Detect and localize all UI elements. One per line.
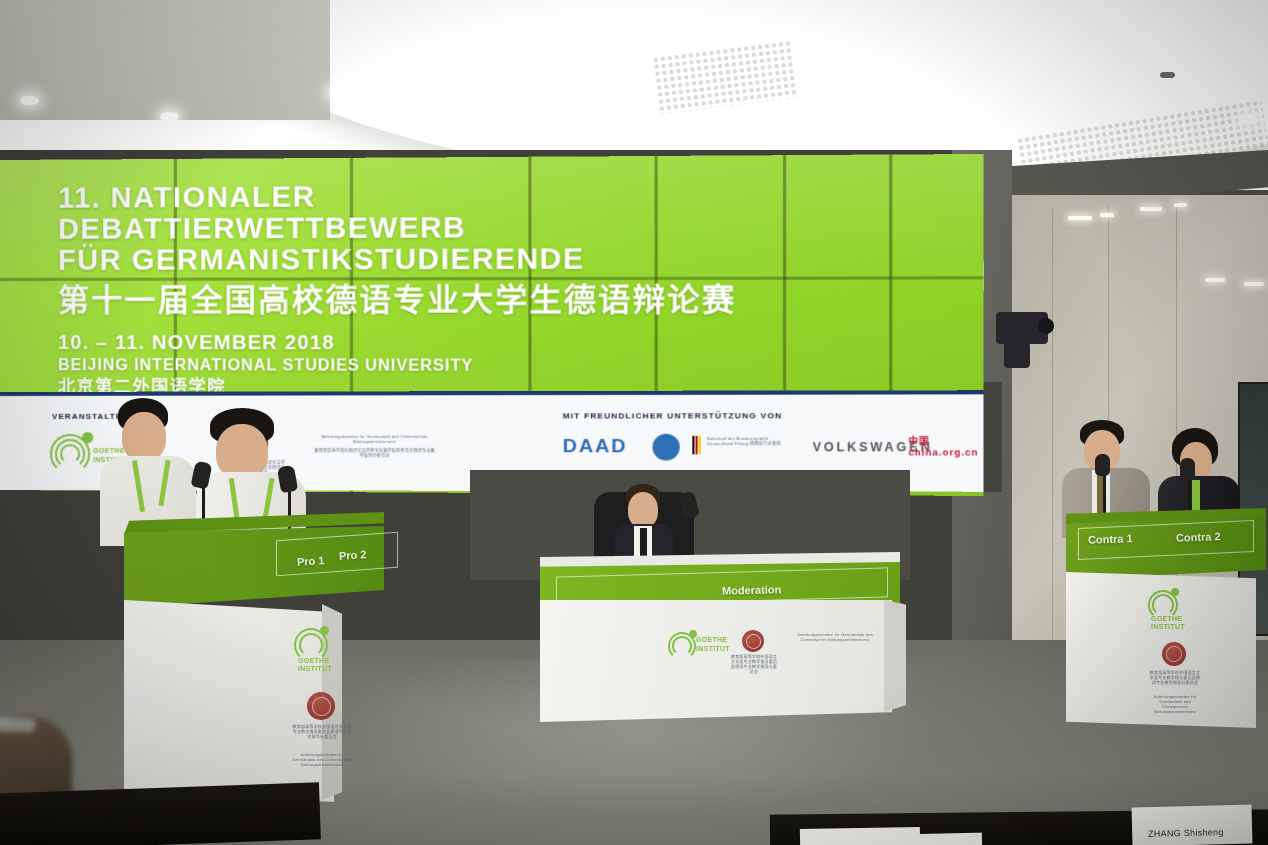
foreground-table-left [0, 782, 321, 845]
seal-inner-ring [312, 697, 331, 716]
podium-seal-caption: 教育部高等学校外国语言文学类专业教学指导委员会德语专业教学指导分委员会 [1148, 670, 1202, 685]
wall-strip-light [1174, 203, 1187, 207]
german-flag-black [692, 436, 694, 454]
desk-ministry-text: Anleitungskomitee für Germanistik des Ch… [790, 632, 880, 642]
supporter-label: MIT FREUNDLICHER UNTERSTÜTZUNG VON [563, 411, 783, 420]
podium-university-seal [307, 692, 335, 720]
china-sponsor-logo: 中国 china.org.cn [908, 434, 983, 458]
headline-line-2: DEBATTIERWETTBEWERB [58, 212, 737, 246]
moderation-desk-body [540, 600, 892, 722]
goethe-wordmark-2: INSTITUT [298, 666, 332, 674]
ceiling-downlight [1240, 115, 1259, 124]
goethe-ring [672, 636, 692, 656]
podium-label-contra-1: Contra 1 [1088, 533, 1133, 547]
goethe-ring [1152, 594, 1174, 616]
wall-strip-light [1244, 282, 1264, 286]
partner-circle-logo [652, 434, 679, 461]
wall-strip-light [1068, 216, 1092, 220]
desk-goethe-logo: GOETHE INSTITUT [668, 630, 730, 660]
wall-strip-light [1140, 207, 1162, 211]
goethe-wordmark-1: GOETHE [298, 658, 329, 666]
embassy-text: Botschaft der Bundesrepublik Deutschland… [707, 436, 794, 446]
wall-strip-light [1100, 213, 1114, 217]
headline-line-3: FÜR GERMANISTIKSTUDIERENDE [58, 244, 737, 277]
podium-seal-caption: 教育部高等学校外国语言文学类专业教学指导委员会德语专业教学指导分委员会 [292, 724, 352, 739]
podium-label-contra-2: Contra 2 [1176, 531, 1221, 545]
headline-chinese: 第十一届全国高校德语专业大学生德语辩论赛 [58, 280, 737, 321]
seal-inner-ring [746, 634, 761, 649]
desk-seal-caption: 教育部高等学校外国语言文学类专业教学指导委员会德语专业教学指导分委员会 [730, 654, 778, 674]
name-tent-label: ZHANG Shisheng [1148, 827, 1224, 839]
podium-ministry-text: Anleitungskomitee für Germanistik des Ch… [1146, 694, 1204, 714]
contra-podium: Contra 1 Contra 2 GOETHE INSTITUT 教育部高等学… [1066, 508, 1268, 730]
goethe-wordmark-2: INSTITUT [1151, 624, 1185, 632]
ceiling-soffit-left [0, 0, 330, 120]
ministry-text-de: Anleitungskomitee für Germanistik des Ch… [313, 434, 436, 444]
goethe-dot [320, 626, 329, 635]
ceiling-downlight [160, 112, 179, 121]
debate-hall-photo: 11. NATIONALER DEBATTIERWETTBEWERB FÜR G… [0, 0, 1268, 845]
camera-mount [1004, 342, 1030, 368]
pro-podium: Pro 1 Pro 2 GOETHE INSTITUT 教育部高等学校外国语言文… [124, 512, 384, 802]
goethe-dot [1171, 588, 1179, 596]
document-paper [852, 833, 982, 845]
podium-university-seal [1162, 642, 1186, 666]
name-tent-card [1132, 805, 1253, 845]
german-flag-gold [699, 436, 701, 454]
goethe-dot [82, 432, 93, 443]
headline-line-1: 11. NATIONALER [58, 180, 737, 215]
audience-member-glasses [0, 718, 36, 732]
podium-label-pro-1: Pro 1 [297, 555, 325, 569]
podium-ministry-text: Anleitungskomitee für Germanistik des Ch… [290, 752, 354, 767]
camera-lens [1038, 318, 1054, 334]
podium-goethe-logo: GOETHE INSTITUT [294, 624, 352, 666]
daad-logo: DAAD [563, 436, 628, 459]
podium-goethe-logo: GOETHE INSTITUT [1148, 586, 1202, 626]
venue-english: BEIJING INTERNATIONAL STUDIES UNIVERSITY [58, 356, 737, 377]
event-date: 10. – 11. NOVEMBER 2018 [58, 331, 737, 357]
german-flag-red [696, 436, 698, 454]
video-wall-headline: 11. NATIONALER DEBATTIERWETTBEWERB FÜR G… [58, 180, 737, 399]
moderation-label: Moderation [722, 584, 782, 597]
head [122, 412, 166, 462]
ministry-text-cn: 教育部高等学校外国语言文学类专业教学指导委员会德语专业教学指导分委员会 [313, 448, 436, 458]
seal-inner-ring [1166, 646, 1182, 662]
wall-strip-light [1205, 278, 1225, 282]
ceiling-downlight [1145, 98, 1164, 107]
goethe-wordmark-1: GOETHE [1151, 616, 1182, 624]
wall-panel-seam [1052, 209, 1053, 639]
goethe-wordmark-1: GOETHE [696, 637, 727, 645]
ceiling-downlight [20, 96, 39, 105]
ceiling-downlight [330, 88, 349, 97]
moderation-desk-side [884, 600, 906, 712]
goethe-wordmark-2: INSTITUT [696, 646, 730, 654]
podium-label-pro-2: Pro 2 [339, 549, 367, 563]
sponsor-band-rule [0, 390, 983, 396]
microphone-head [1180, 458, 1195, 480]
desk-university-seal [742, 630, 764, 652]
goethe-ring [299, 633, 323, 657]
microphone-head [1095, 454, 1110, 476]
goethe-ring [60, 444, 80, 464]
ceiling-vent [1160, 72, 1175, 78]
head [628, 492, 658, 528]
